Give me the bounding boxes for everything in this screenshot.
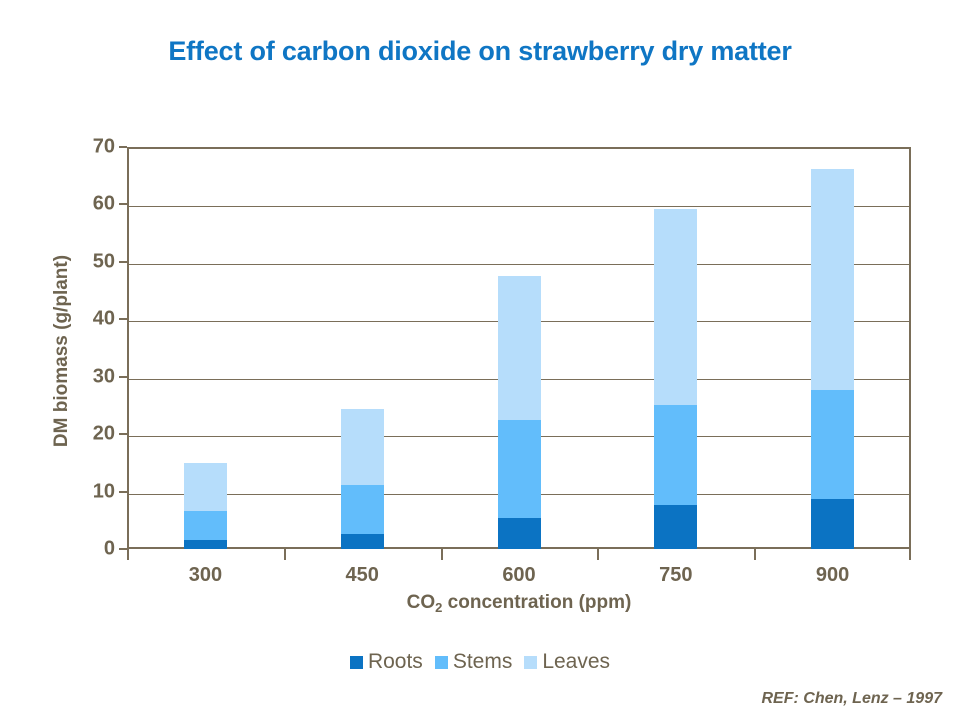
x-axis-tick-mark (127, 549, 129, 560)
y-axis-tick-label: 0 (61, 538, 115, 561)
legend-label: Roots (368, 650, 423, 674)
x-axis-tick-mark (909, 549, 911, 560)
x-axis-tick-label: 300 (150, 564, 260, 587)
x-axis-tick-mark (441, 549, 443, 560)
chart-title: Effect of carbon dioxide on strawberry d… (0, 36, 960, 67)
legend-swatch-icon (350, 656, 363, 669)
x-axis-title-subscript: 2 (435, 600, 442, 615)
y-axis-tick-mark (119, 548, 127, 550)
y-axis-tick-label: 10 (61, 480, 115, 503)
x-axis-title-suffix: concentration (ppm) (442, 592, 631, 613)
gridline (129, 436, 909, 437)
legend-item-roots[interactable]: Roots (350, 650, 423, 674)
y-axis-tick-mark (119, 146, 127, 148)
y-axis-tick-mark (119, 203, 127, 205)
x-axis-tick-label: 450 (307, 564, 417, 587)
legend-swatch-icon (524, 656, 537, 669)
y-axis-tick-mark (119, 491, 127, 493)
x-axis-tick-label: 750 (621, 564, 731, 587)
y-axis-tick-mark (119, 318, 127, 320)
y-axis-tick-label: 40 (61, 308, 115, 331)
x-axis-tick-labels: 300450600750900 (127, 564, 911, 592)
x-axis-tick-label: 600 (464, 564, 574, 587)
y-axis-tick-label: 50 (61, 250, 115, 273)
gridline (129, 494, 909, 495)
x-axis-title: CO2 concentration (ppm) (127, 592, 911, 614)
reference-citation: REF: Chen, Lenz – 1997 (762, 690, 943, 708)
y-axis-tick-label: 30 (61, 365, 115, 388)
legend-label: Leaves (542, 650, 610, 674)
y-axis-tick-labels: 010203040506070 (55, 147, 115, 549)
legend-item-leaves[interactable]: Leaves (524, 650, 610, 674)
x-axis-tick-label: 900 (778, 564, 888, 587)
y-axis-tick-label: 20 (61, 423, 115, 446)
x-axis-title-prefix: CO (407, 592, 436, 613)
y-axis-tick-mark (119, 433, 127, 435)
x-axis-tick-mark (284, 549, 286, 560)
gridline (129, 321, 909, 322)
slide-canvas: Effect of carbon dioxide on strawberry d… (0, 0, 960, 720)
gridline (129, 264, 909, 265)
gridline (129, 379, 909, 380)
legend-item-stems[interactable]: Stems (435, 650, 513, 674)
y-axis-tick-mark (119, 376, 127, 378)
plot-area (127, 147, 911, 549)
x-axis-tick-marks (127, 549, 911, 561)
legend-swatch-icon (435, 656, 448, 669)
x-axis-tick-mark (597, 549, 599, 560)
gridline (129, 206, 909, 207)
y-axis-tick-mark (119, 261, 127, 263)
y-axis-tick-label: 70 (61, 136, 115, 159)
y-axis-tick-label: 60 (61, 193, 115, 216)
chart-legend: RootsStemsLeaves (0, 650, 960, 674)
x-axis-tick-mark (754, 549, 756, 560)
legend-label: Stems (453, 650, 513, 674)
